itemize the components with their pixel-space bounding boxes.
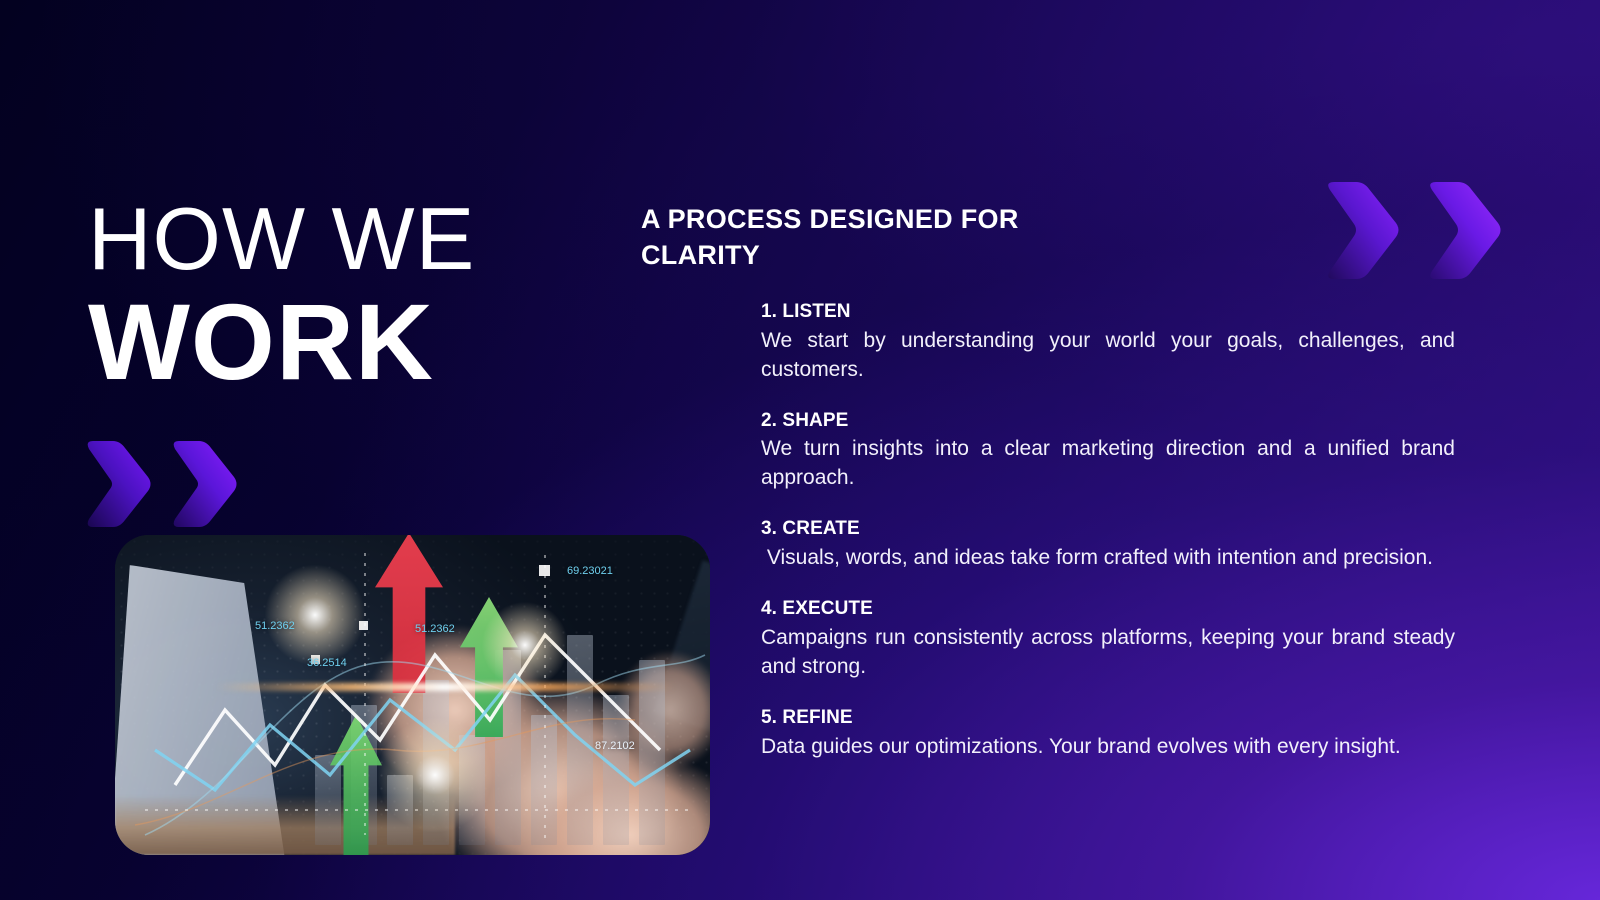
step-title: 3. CREATE: [761, 517, 1455, 541]
chevron-right-icon: [82, 438, 154, 530]
slide-root: HOW WE WORK: [0, 0, 1600, 900]
page-title-line1: HOW WE: [88, 196, 475, 282]
chart-value-label: 36.2514: [307, 657, 347, 669]
step-body: We start by understanding your world you…: [761, 327, 1455, 385]
chart-value-label: 51.2362: [415, 623, 455, 635]
step-body: Campaigns run consistently across platfo…: [761, 624, 1455, 682]
step-title: 4. EXECUTE: [761, 597, 1455, 621]
chevron-right-icon: [168, 438, 240, 530]
list-item: 3. CREATE Visuals, words, and ideas take…: [761, 517, 1455, 573]
step-body: We turn insights into a clear marketing …: [761, 435, 1455, 493]
section-kicker: A PROCESS DESIGNED FOR CLARITY: [641, 202, 1081, 274]
hero-image: 69.23021 51.2362 87.2102 36.2514 51.2362: [115, 535, 710, 855]
step-title: 5. REFINE: [761, 706, 1455, 730]
chart-value-label: 69.23021: [567, 565, 613, 577]
list-item: 5. REFINE Data guides our optimizations.…: [761, 706, 1455, 762]
list-item: 4. EXECUTE Campaigns run consistently ac…: [761, 597, 1455, 682]
hero-image-content: 69.23021 51.2362 87.2102 36.2514 51.2362: [115, 535, 710, 855]
list-item: 2. SHAPE We turn insights into a clear m…: [761, 409, 1455, 494]
chart-value-label: 87.2102: [595, 740, 635, 752]
step-title: 1. LISTEN: [761, 300, 1455, 324]
page-title-line2: WORK: [88, 288, 475, 396]
step-body: Visuals, words, and ideas take form craf…: [761, 544, 1455, 573]
process-steps-list: 1. LISTEN We start by understanding your…: [761, 300, 1455, 762]
list-item: 1. LISTEN We start by understanding your…: [761, 300, 1455, 385]
step-body: Data guides our optimizations. Your bran…: [761, 733, 1455, 762]
chart-lines: [115, 535, 710, 855]
chevron-group-left: [82, 438, 240, 530]
light-streak: [215, 683, 675, 691]
chart-value-label: 51.2362: [255, 620, 295, 632]
right-column: A PROCESS DESIGNED FOR CLARITY: [641, 202, 1461, 274]
step-title: 2. SHAPE: [761, 409, 1455, 433]
page-title: HOW WE WORK: [88, 196, 475, 396]
